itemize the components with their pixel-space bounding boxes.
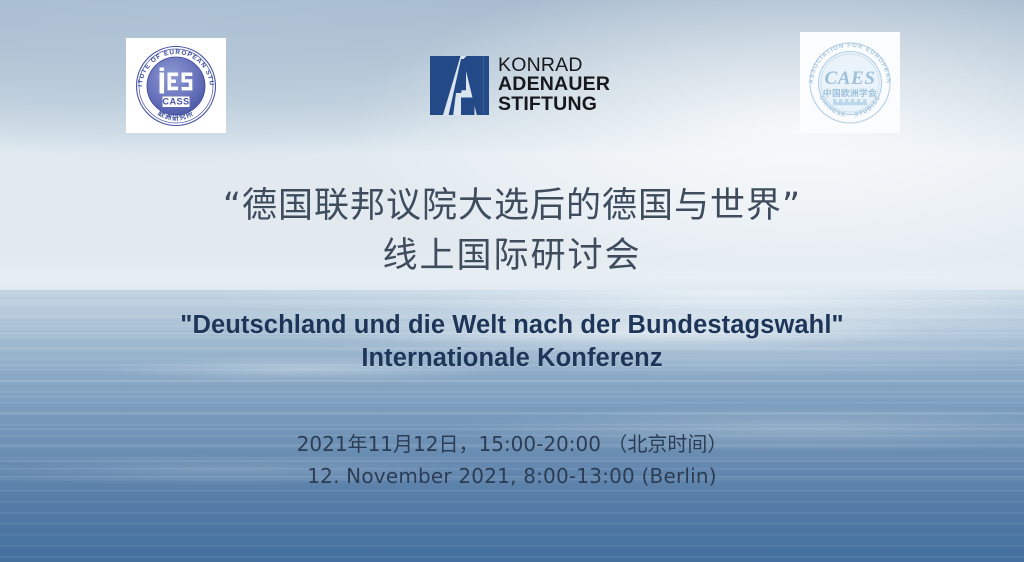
kas-wordmark: KONRAD ADENAUER STIFTUNG bbox=[498, 56, 610, 114]
kas-line-2: ADENAUER bbox=[498, 75, 610, 94]
kas-line-3: STIFTUNG bbox=[498, 95, 610, 114]
svg-text:CASS: CASS bbox=[162, 97, 189, 107]
title-chinese-line-1: “德国联邦议院大选后的德国与世界” bbox=[0, 182, 1024, 232]
kas-a-mark-icon bbox=[430, 56, 489, 115]
svg-text:中国欧洲学会: 中国欧洲学会 bbox=[823, 87, 877, 99]
title-chinese-line-2: 线上国际研讨会 bbox=[0, 232, 1024, 282]
conference-title-slide: INSTITUTE OF EUROPEAN STUDIES 欧洲研究所 CA bbox=[0, 0, 1024, 562]
schedule-line-chinese: 2021年11月12日，15:00-20:00 （北京时间） bbox=[0, 428, 1024, 460]
konrad-adenauer-stiftung-logo: KONRAD ADENAUER STIFTUNG bbox=[430, 54, 610, 116]
title-german-line-1: "Deutschland und die Welt nach der Bunde… bbox=[0, 309, 1024, 342]
title-german-line-2: Internationale Konferenz bbox=[0, 342, 1024, 375]
conference-title-chinese: “德国联邦议院大选后的德国与世界” 线上国际研讨会 bbox=[0, 182, 1024, 281]
conference-title-german: "Deutschland und die Welt nach der Bunde… bbox=[0, 309, 1024, 375]
schedule-line-german: 12. November 2021, 8:00-13:00 (Berlin) bbox=[0, 460, 1024, 492]
ies-cass-logo: INSTITUTE OF EUROPEAN STUDIES 欧洲研究所 CA bbox=[126, 38, 226, 133]
svg-text:CAES: CAES bbox=[825, 68, 876, 89]
schedule-block: 2021年11月12日，15:00-20:00 （北京时间） 12. Novem… bbox=[0, 428, 1024, 493]
caes-logo: ASSOCIATION FOR EUROPEAN CHINESE · STUDI… bbox=[800, 32, 900, 133]
